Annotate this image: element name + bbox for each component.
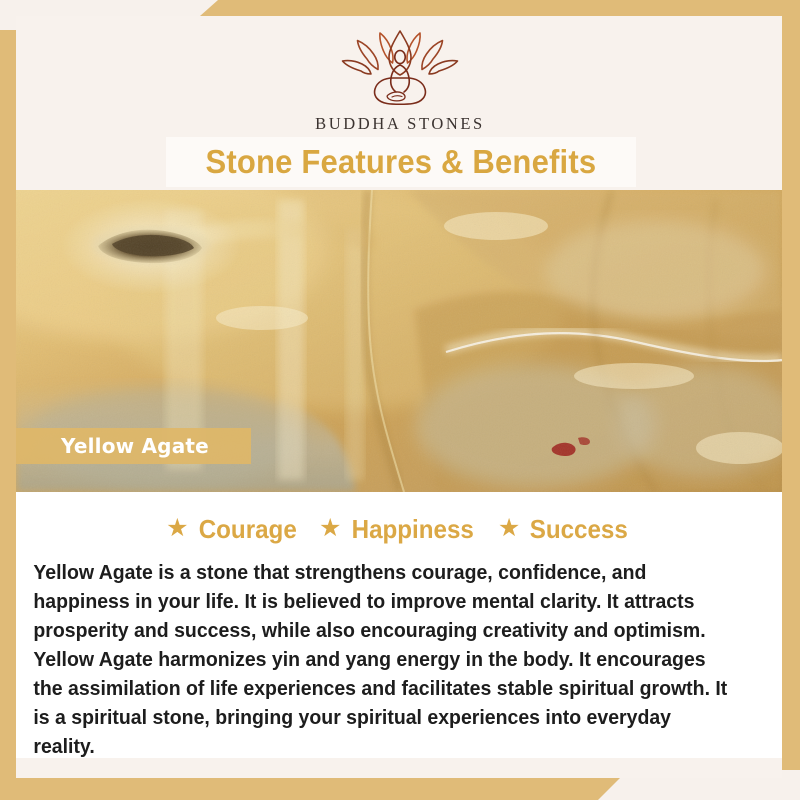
benefit-success: ★ Success (498, 514, 632, 545)
benefit-label-happiness: Happiness (352, 514, 474, 545)
gold-bottom-accent-bar (0, 778, 620, 800)
stone-description-card: ★ Courage ★ Happiness ★ Success Yellow A… (16, 492, 782, 758)
title-banner: Stone Features & Benefits (166, 137, 636, 187)
stone-photo: Yellow Agate (16, 190, 782, 492)
star-icon: ★ (166, 516, 188, 541)
lotus-meditation-icon (334, 28, 466, 112)
benefit-happiness: ★ Happiness (319, 514, 479, 545)
stone-description-text: Yellow Agate is a stone that strengthens… (16, 559, 755, 762)
benefits-row: ★ Courage ★ Happiness ★ Success (16, 514, 782, 545)
stone-name-label: Yellow Agate (61, 434, 209, 458)
brand-name: BUDDHA STONES (315, 114, 485, 134)
star-icon: ★ (498, 516, 520, 541)
stone-info-poster: BUDDHA STONES Stone Features & Benefits (0, 0, 800, 800)
gold-top-accent-bar (200, 0, 800, 16)
star-icon: ★ (319, 516, 341, 541)
benefit-label-success: Success (530, 514, 628, 545)
benefit-label-courage: Courage (198, 514, 296, 545)
benefit-courage: ★ Courage (166, 514, 300, 545)
page-title: Stone Features & Benefits (206, 143, 597, 181)
gold-left-accent-bar (0, 30, 16, 800)
stone-name-badge: Yellow Agate (16, 428, 251, 464)
brand-header: BUDDHA STONES (0, 16, 800, 141)
